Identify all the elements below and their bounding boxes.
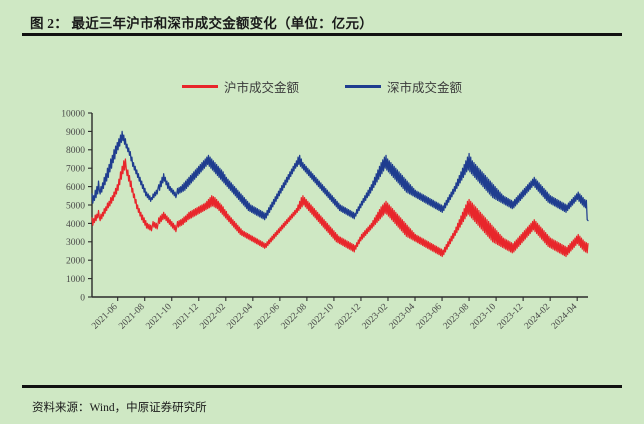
x-tick-label: 2023-02 xyxy=(361,302,391,332)
x-tick-label: 2023-08 xyxy=(442,302,472,332)
x-tick-label: 2021-08 xyxy=(117,302,147,332)
y-tick-label: 0 xyxy=(80,293,85,303)
x-tick-label: 2022-10 xyxy=(307,302,337,332)
x-tick-label: 2024-02 xyxy=(523,302,553,332)
y-tick-label: 2000 xyxy=(66,257,85,267)
y-tick-label: 6000 xyxy=(66,183,85,193)
x-tick-label: 2022-08 xyxy=(280,302,310,332)
source-note: 资料来源：Wind，中原证券研究所 xyxy=(32,402,207,414)
chart-legend: 沪市成交金额 深市成交金额 xyxy=(0,76,644,96)
x-tick-label: 2021-10 xyxy=(144,302,174,332)
page-title: 图 2： 最近三年沪市和深市成交金额变化（单位：亿元） xyxy=(30,16,373,31)
plot-area: 0100020003000400050006000700080009000100… xyxy=(0,100,644,370)
x-tick-label: 2022-12 xyxy=(334,302,364,332)
legend-item-shanghai[interactable]: 沪市成交金额 xyxy=(182,77,299,96)
y-tick-label: 7000 xyxy=(66,165,85,175)
legend-label-shanghai: 沪市成交金额 xyxy=(224,77,299,96)
x-tick-label: 2023-06 xyxy=(415,302,445,332)
figure-title-row: 图 2： 最近三年沪市和深市成交金额变化（单位：亿元） xyxy=(30,12,614,34)
x-tick-label: 2024-04 xyxy=(550,302,580,332)
source-divider-bottom xyxy=(22,385,622,388)
legend-swatch-shenzhen xyxy=(345,85,381,88)
x-tick-label: 2022-02 xyxy=(198,302,228,332)
y-tick-label: 3000 xyxy=(66,238,85,248)
y-tick-label: 5000 xyxy=(66,201,85,211)
y-tick-label: 9000 xyxy=(66,128,85,138)
legend-swatch-shanghai xyxy=(182,85,218,88)
legend-item-shenzhen[interactable]: 深市成交金额 xyxy=(345,77,462,96)
x-tick-label: 2021-06 xyxy=(90,302,120,332)
figure-container: 图 2： 最近三年沪市和深市成交金额变化（单位：亿元） 沪市成交金额 深市成交金… xyxy=(0,0,644,424)
x-tick-label: 2022-04 xyxy=(225,302,255,332)
legend-label-shenzhen: 深市成交金额 xyxy=(387,77,462,96)
source-row: 资料来源：Wind，中原证券研究所 xyxy=(32,398,207,416)
line-chart: 0100020003000400050006000700080009000100… xyxy=(0,100,644,370)
y-tick-label: 8000 xyxy=(66,146,85,156)
x-tick-label: 2022-06 xyxy=(253,302,283,332)
x-tick-label: 2021-12 xyxy=(171,302,201,332)
x-tick-label: 2023-04 xyxy=(388,302,418,332)
x-tick-label: 2023-12 xyxy=(496,302,526,332)
title-divider-top xyxy=(22,33,622,36)
y-tick-label: 10000 xyxy=(61,109,85,119)
x-tick-label: 2023-10 xyxy=(469,302,499,332)
y-tick-label: 4000 xyxy=(66,220,85,230)
y-tick-label: 1000 xyxy=(66,275,85,285)
series-line-shenzhen xyxy=(92,131,588,220)
